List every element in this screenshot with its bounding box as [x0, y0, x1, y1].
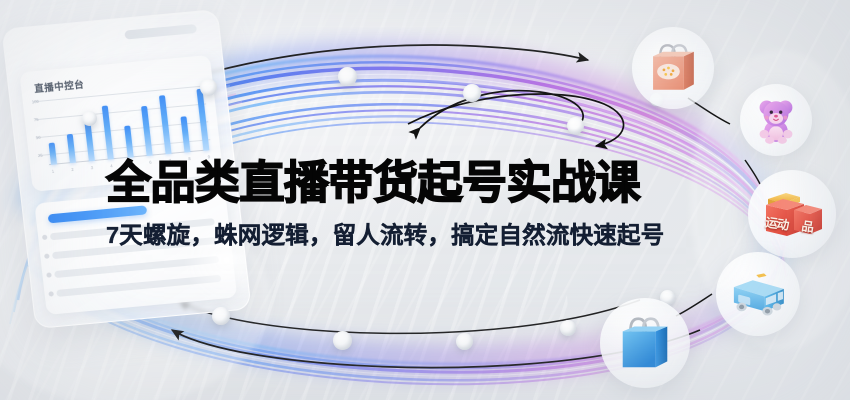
page-title: 全品类直播带货起号实战课 — [106, 160, 766, 207]
arrow-mid-spiral — [408, 94, 624, 146]
sphere-node — [456, 333, 473, 350]
delivery-truck-bubble[interactable] — [716, 252, 800, 336]
gift-box-label-left: 运动 — [762, 211, 792, 234]
bar — [124, 125, 134, 158]
sphere-node — [567, 117, 584, 134]
list-row-bullet — [42, 235, 48, 240]
bar — [102, 105, 114, 159]
bar — [141, 106, 153, 156]
bar — [180, 117, 190, 153]
sphere-node — [200, 79, 217, 96]
page-subtitle: 7天螺旋，蛛网逻辑，留人流转，搞定自然流快速起号 — [106, 216, 766, 250]
sphere-node — [560, 320, 576, 336]
bar — [85, 122, 95, 161]
sphere-node — [82, 111, 97, 126]
course-banner: 直播中控台 100 75 50 25 123456789 — [0, 0, 850, 400]
sphere-node — [333, 331, 352, 350]
blue-shopping-bag-icon — [614, 312, 676, 374]
delivery-truck-icon — [727, 268, 789, 320]
teddy-bear-icon — [751, 95, 801, 145]
gift-box-label-right: 品 — [797, 215, 819, 237]
bar — [196, 88, 209, 151]
list-row-bullet — [44, 253, 50, 258]
gift-boxes-icon: 运动 品 — [760, 188, 824, 240]
blue-shopping-bag-bubble[interactable] — [600, 298, 690, 388]
pink-shopping-bag-icon — [644, 39, 702, 97]
y-tick: 100 — [32, 99, 40, 105]
bar-group — [43, 84, 209, 165]
sphere-node — [212, 307, 230, 325]
bar — [159, 95, 172, 154]
sphere-node — [338, 67, 357, 86]
teddy-bear-bubble[interactable] — [740, 84, 812, 156]
x-tick: 2 — [71, 167, 74, 172]
list-row-bullet — [46, 272, 52, 277]
list-row-bullet — [48, 291, 54, 296]
arrow-inner-loop-right — [420, 91, 583, 128]
bar — [67, 134, 76, 163]
pink-shopping-bag-bubble[interactable] — [632, 27, 714, 109]
y-tick: 75 — [34, 117, 39, 122]
connector-truck-to-bag — [676, 294, 712, 316]
bar — [49, 143, 57, 165]
x-tick: 1 — [52, 169, 55, 174]
headline-block: 全品类直播带货起号实战课 7天螺旋，蛛网逻辑，留人流转，搞定自然流快速起号 — [106, 160, 766, 250]
x-tick: 3 — [91, 165, 94, 170]
sphere-node — [463, 84, 481, 102]
y-tick: 50 — [36, 135, 41, 140]
y-tick: 25 — [38, 153, 43, 158]
card-notch — [124, 24, 197, 40]
dashboard-label: 直播中控台 — [33, 77, 84, 96]
